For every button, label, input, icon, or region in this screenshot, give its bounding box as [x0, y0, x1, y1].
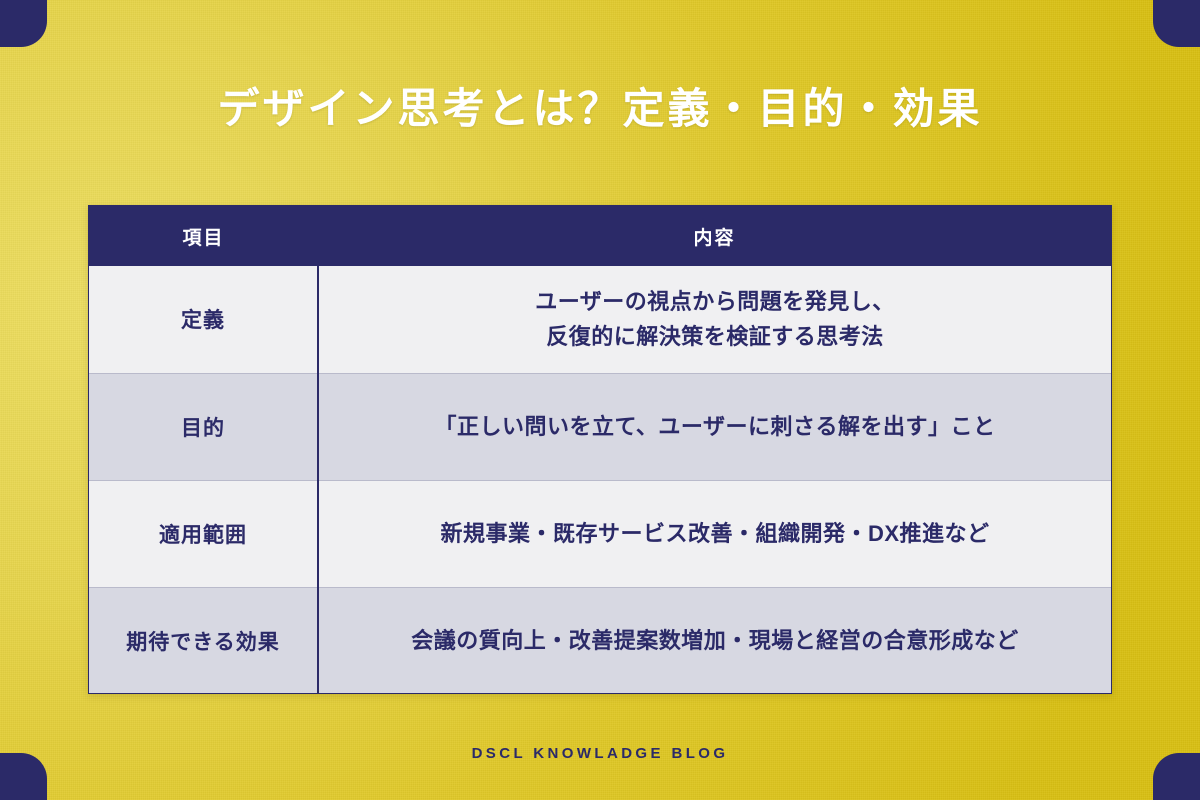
- column-header-detail: 内容: [318, 206, 1111, 266]
- table-header: 項目 内容: [89, 206, 1111, 266]
- table-header-row: 項目 内容: [89, 206, 1111, 266]
- table-body: 定義 ユーザーの視点から問題を発見し、 反復的に解決策を検証する思考法 目的 「…: [89, 266, 1111, 694]
- page-title: デザイン思考とは？定義・目的・効果: [0, 84, 1200, 134]
- corner-bracket-top-left: [0, 0, 47, 47]
- cell-detail: 新規事業・既存サービス改善・組織開発・DX推進など: [318, 480, 1111, 587]
- cell-detail: ユーザーの視点から問題を発見し、 反復的に解決策を検証する思考法: [318, 266, 1111, 373]
- info-table: 項目 内容 定義 ユーザーの視点から問題を発見し、 反復的に解決策を検証する思考…: [89, 206, 1111, 694]
- column-header-item: 項目: [89, 206, 318, 266]
- cell-item: 期待できる効果: [89, 587, 318, 694]
- cell-detail: 会議の質向上・改善提案数増加・現場と経営の合意形成など: [318, 587, 1111, 694]
- cell-detail: 「正しい問いを立て、ユーザーに刺さる解を出す」こと: [318, 373, 1111, 480]
- cell-item: 定義: [89, 266, 318, 373]
- cell-item: 目的: [89, 373, 318, 480]
- table-row: 適用範囲 新規事業・既存サービス改善・組織開発・DX推進など: [89, 480, 1111, 587]
- detail-line: ユーザーの視点から問題を発見し、: [535, 289, 895, 314]
- table-row: 期待できる効果 会議の質向上・改善提案数増加・現場と経営の合意形成など: [89, 587, 1111, 694]
- corner-bracket-bottom-right: [1153, 753, 1200, 800]
- detail-line: 反復的に解決策を検証する思考法: [546, 324, 884, 349]
- cell-item: 適用範囲: [89, 480, 318, 587]
- table-row: 定義 ユーザーの視点から問題を発見し、 反復的に解決策を検証する思考法: [89, 266, 1111, 373]
- footer-brand: DSCL KNOWLADGE BLOG: [0, 745, 1200, 762]
- info-table-container: 項目 内容 定義 ユーザーの視点から問題を発見し、 反復的に解決策を検証する思考…: [88, 205, 1112, 694]
- corner-bracket-top-right: [1153, 0, 1200, 47]
- infographic-canvas: デザイン思考とは？定義・目的・効果 項目 内容 定義 ユーザーの視点から問題を発…: [0, 0, 1200, 800]
- table-row: 目的 「正しい問いを立て、ユーザーに刺さる解を出す」こと: [89, 373, 1111, 480]
